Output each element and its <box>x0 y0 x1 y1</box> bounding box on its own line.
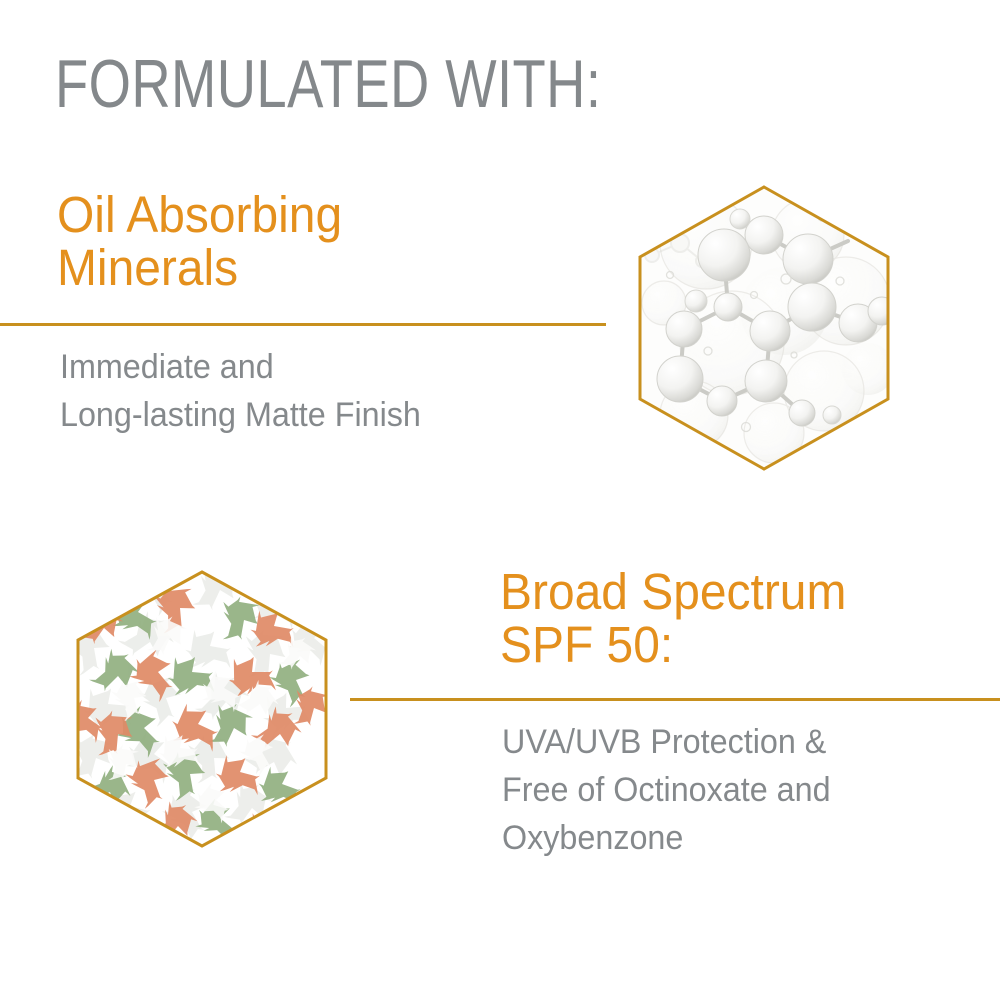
feature-heading-oil-absorbing-minerals: Oil Absorbing Minerals <box>57 188 583 294</box>
feature-body-broad-spectrum-spf-50: UVA/UVB Protection & Free of Octinoxate … <box>502 718 1000 862</box>
feature-body-oil-absorbing-minerals: Immediate and Long-lasting Matte Finish <box>60 343 620 439</box>
feature-divider-rule-2 <box>350 698 1000 701</box>
feature-divider-rule-1 <box>0 323 606 326</box>
feature-block-broad-spectrum-spf-50: Broad Spectrum SPF 50: <box>500 565 1000 671</box>
infographic-page: FORMULATED WITH: Oil Absorbing Minerals … <box>0 0 1000 1000</box>
molecule-hexagon-icon <box>636 183 892 473</box>
feature-block-oil-absorbing-minerals: Oil Absorbing Minerals <box>57 188 617 294</box>
page-title: FORMULATED WITH: <box>55 48 601 120</box>
feature-heading-broad-spectrum-spf-50: Broad Spectrum SPF 50: <box>500 565 970 671</box>
mineral-lattice-hexagon-icon <box>74 568 330 850</box>
